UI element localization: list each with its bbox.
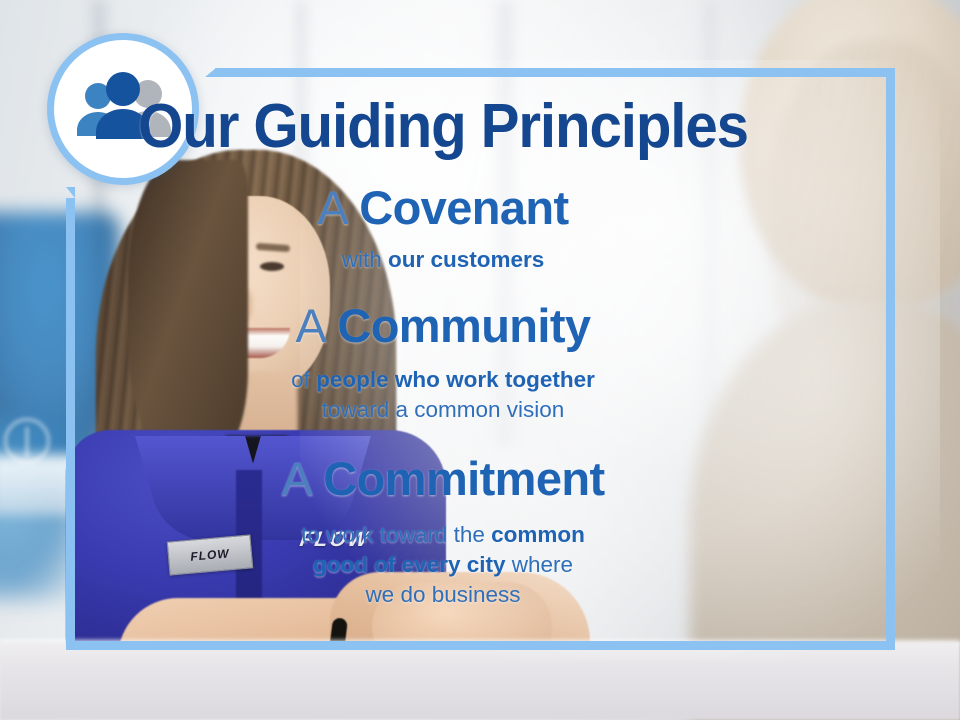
principle-keyword: Commitment xyxy=(323,452,604,505)
principle-subline-emphasis: people who work together xyxy=(316,367,595,392)
principle-commitment: A Commitment to work toward the common g… xyxy=(0,455,886,610)
principle-subline-emphasis: good of every city xyxy=(313,552,506,577)
principle-article: A xyxy=(317,181,346,234)
principle-heading: A Covenant xyxy=(0,184,886,233)
principle-subtext: with our customers xyxy=(0,245,886,275)
principle-subline-emphasis: our customers xyxy=(388,247,544,272)
principle-community: A Community of people who work together … xyxy=(0,302,886,425)
copy-block: Our Guiding Principles A Covenant with o… xyxy=(0,0,960,720)
principle-article: A xyxy=(296,299,325,352)
principle-subline: with our customers xyxy=(0,245,886,275)
principle-subline: we do business xyxy=(0,580,886,610)
principle-keyword: Covenant xyxy=(359,181,568,234)
principle-subline: good of every city where xyxy=(0,550,886,580)
principle-covenant: A Covenant with our customers xyxy=(0,184,886,275)
principle-subline: to work toward the common xyxy=(0,520,886,550)
principle-subtext: of people who work together toward a com… xyxy=(0,365,886,425)
principle-subline: of people who work together xyxy=(0,365,886,395)
page-title: Our Guiding Principles xyxy=(27,96,860,158)
principle-subline-emphasis: common xyxy=(491,522,585,547)
guiding-principles-graphic: FLOW FLOW Our Guiding Principles xyxy=(0,0,960,720)
principle-subtext: to work toward the common good of every … xyxy=(0,520,886,610)
principle-heading: A Community xyxy=(0,302,886,351)
principle-keyword: Community xyxy=(337,299,590,352)
principle-subline: toward a common vision xyxy=(0,395,886,425)
principle-article: A xyxy=(281,452,310,505)
principle-heading: A Commitment xyxy=(0,455,886,504)
